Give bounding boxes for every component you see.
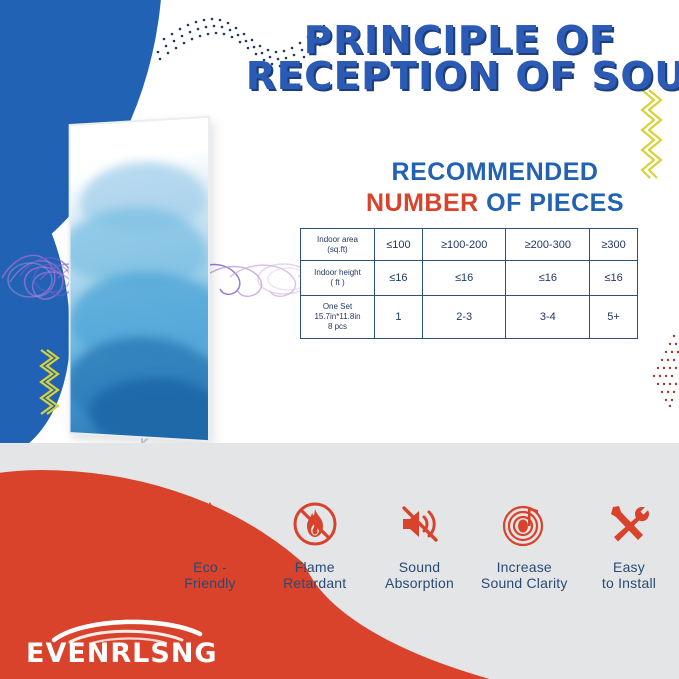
cell-height-1: ≤16 bbox=[375, 261, 423, 296]
cell-sets-4: 5+ bbox=[590, 296, 638, 339]
muted-speaker-icon bbox=[370, 496, 470, 552]
feature-item-flame-retardant: Flame Retardant bbox=[265, 496, 365, 591]
cell-area-4: ≥300 bbox=[590, 229, 638, 261]
row-label-indoor-area: Indoor area (sq.ft) bbox=[301, 229, 375, 261]
sound-clarity-icon bbox=[474, 496, 574, 552]
title-line-1: PRINCIPLE OF bbox=[246, 22, 674, 58]
feature-label-line-1: Increase bbox=[474, 560, 574, 576]
feature-label-flame-retardant: Flame Retardant bbox=[265, 560, 365, 591]
label-line-1: Indoor area bbox=[304, 235, 371, 245]
heading-number-word: NUMBER bbox=[366, 189, 479, 217]
acoustic-panel bbox=[69, 116, 210, 443]
cell-height-3: ≤16 bbox=[506, 261, 590, 296]
title-line-2: RECEPTION OF SOUND bbox=[246, 58, 674, 94]
heading-ofpieces-word: OF PIECES bbox=[479, 189, 624, 217]
feature-label-line-1: Eco - bbox=[160, 560, 260, 576]
feature-item-sound-absorption: Sound Absorption bbox=[370, 496, 470, 591]
cell-sets-2: 2-3 bbox=[422, 296, 506, 339]
cell-height-2: ≤16 bbox=[422, 261, 506, 296]
feature-item-easy-install: Easy to Install bbox=[579, 496, 679, 591]
row-label-one-set: One Set 15.7in*11.8in 8 pcs bbox=[301, 296, 375, 339]
feature-label-line-1: Flame bbox=[265, 560, 365, 576]
feature-label-line-2: to Install bbox=[579, 576, 679, 592]
table-row: One Set 15.7in*11.8in 8 pcs 1 2-3 3-4 5+ bbox=[301, 296, 638, 339]
feature-label-line-1: Sound bbox=[370, 560, 470, 576]
feature-label-sound-absorption: Sound Absorption bbox=[370, 560, 470, 591]
recycle-icon bbox=[160, 496, 260, 552]
cell-sets-1: 1 bbox=[375, 296, 423, 339]
label-line-3: 8 pcs bbox=[304, 322, 371, 332]
row-label-indoor-height: Indoor height ( ft ) bbox=[301, 261, 375, 296]
feature-label-line-2: Absorption bbox=[370, 576, 470, 592]
label-line-1: One Set bbox=[304, 302, 371, 312]
feature-label-sound-clarity: Increase Sound Clarity bbox=[474, 560, 574, 591]
table-row: Indoor height ( ft ) ≤16 ≤16 ≤16 ≤16 bbox=[301, 261, 638, 296]
cell-area-2: ≥100-200 bbox=[422, 229, 506, 261]
dotted-triangle-decoration bbox=[640, 330, 679, 410]
feature-item-sound-clarity: Increase Sound Clarity bbox=[474, 496, 574, 591]
feature-label-line-2: Friendly bbox=[160, 576, 260, 592]
cell-sets-3: 3-4 bbox=[506, 296, 590, 339]
tools-icon bbox=[579, 496, 679, 552]
recommended-heading-line2: NUMBER OF PIECES bbox=[330, 189, 660, 218]
label-line-2: (sq.ft) bbox=[304, 245, 371, 255]
feature-label-easy-install: Easy to Install bbox=[579, 560, 679, 591]
feature-label-eco-friendly: Eco - Friendly bbox=[160, 560, 260, 591]
brand-name: EVENRLSNG bbox=[26, 638, 218, 669]
page-title: PRINCIPLE OF RECEPTION OF SOUND bbox=[250, 22, 670, 94]
infographic-canvas: PRINCIPLE OF RECEPTION OF SOUND bbox=[0, 0, 679, 679]
no-flame-icon bbox=[265, 496, 365, 552]
feature-label-line-2: Sound Clarity bbox=[474, 576, 574, 592]
cell-area-3: ≥200-300 bbox=[506, 229, 590, 261]
feature-label-line-2: Retardant bbox=[265, 576, 365, 592]
feature-item-eco-friendly: Eco - Friendly bbox=[160, 496, 260, 591]
recommended-pieces-table: Indoor area (sq.ft) ≤100 ≥100-200 ≥200-3… bbox=[300, 228, 638, 339]
table-row: Indoor area (sq.ft) ≤100 ≥100-200 ≥200-3… bbox=[301, 229, 638, 261]
cell-area-1: ≤100 bbox=[375, 229, 423, 261]
product-illustration bbox=[40, 112, 290, 452]
feature-list: Eco - Friendly Flame Retardant bbox=[160, 496, 679, 591]
feature-label-line-1: Easy bbox=[579, 560, 679, 576]
label-line-2: ( ft ) bbox=[304, 278, 371, 288]
recommended-heading-line1: RECOMMENDED bbox=[330, 158, 660, 187]
recommended-heading: RECOMMENDED NUMBER OF PIECES bbox=[330, 158, 660, 218]
cell-height-4: ≤16 bbox=[590, 261, 638, 296]
label-line-2: 15.7in*11.8in bbox=[304, 312, 371, 322]
brand-logo: EVENRLSNG bbox=[22, 614, 232, 670]
label-line-1: Indoor height bbox=[304, 268, 371, 278]
